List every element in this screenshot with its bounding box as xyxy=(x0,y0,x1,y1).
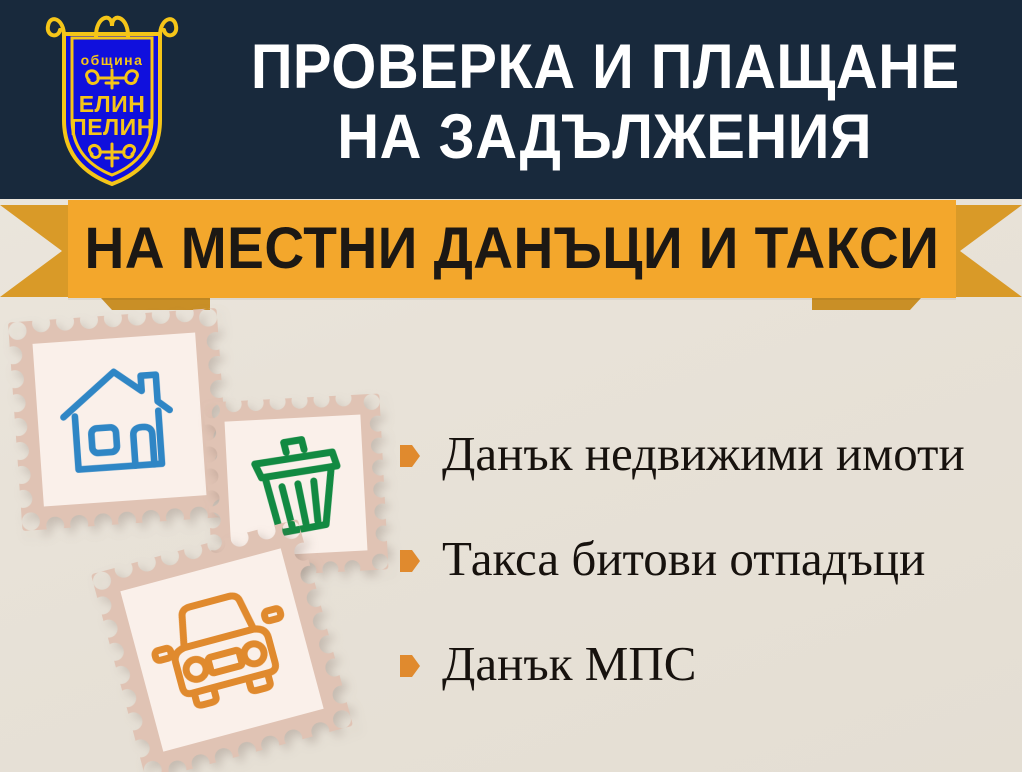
logo-name-line-2: ПЕЛИН xyxy=(70,114,154,140)
municipality-logo: община ЕЛИН ПЕЛИН xyxy=(42,8,182,190)
list-item[interactable]: Данък МПС xyxy=(400,635,1015,693)
list-item-label: Такса битови отпадъци xyxy=(442,531,925,587)
subtitle-ribbon: НА МЕСТНИ ДАНЪЦИ И ТАКСИ xyxy=(0,198,1022,306)
poster-canvas: община ЕЛИН ПЕЛИН xyxy=(0,0,1022,772)
list-item-label: Данък МПС xyxy=(442,636,696,692)
header-bar: община ЕЛИН ПЕЛИН xyxy=(0,0,1022,199)
page-title-line-2: НА ЗАДЪЛЖЕНИЯ xyxy=(338,102,873,172)
page-title-line-1: ПРОВЕРКА И ПЛАЩАНЕ xyxy=(251,32,960,102)
stamp-property xyxy=(5,305,234,534)
list-item[interactable]: Такса битови отпадъци xyxy=(400,530,1015,588)
arrow-right-bullet-icon xyxy=(400,443,420,469)
obligations-list: Данък недвижими имоти Такса битови отпад… xyxy=(400,425,1015,740)
logo-top-text: община xyxy=(81,52,144,68)
arrow-right-bullet-icon xyxy=(400,548,420,574)
ribbon-text: НА МЕСТНИ ДАНЪЦИ И ТАКСИ xyxy=(85,219,940,279)
list-item-label: Данък недвижими имоти xyxy=(442,426,965,482)
ribbon-banner: НА МЕСТНИ ДАНЪЦИ И ТАКСИ xyxy=(68,200,956,298)
arrow-right-bullet-icon xyxy=(400,653,420,679)
list-item[interactable]: Данък недвижими имоти xyxy=(400,425,1015,483)
page-title: ПРОВЕРКА И ПЛАЩАНЕ НА ЗАДЪЛЖЕНИЯ xyxy=(195,14,1015,189)
